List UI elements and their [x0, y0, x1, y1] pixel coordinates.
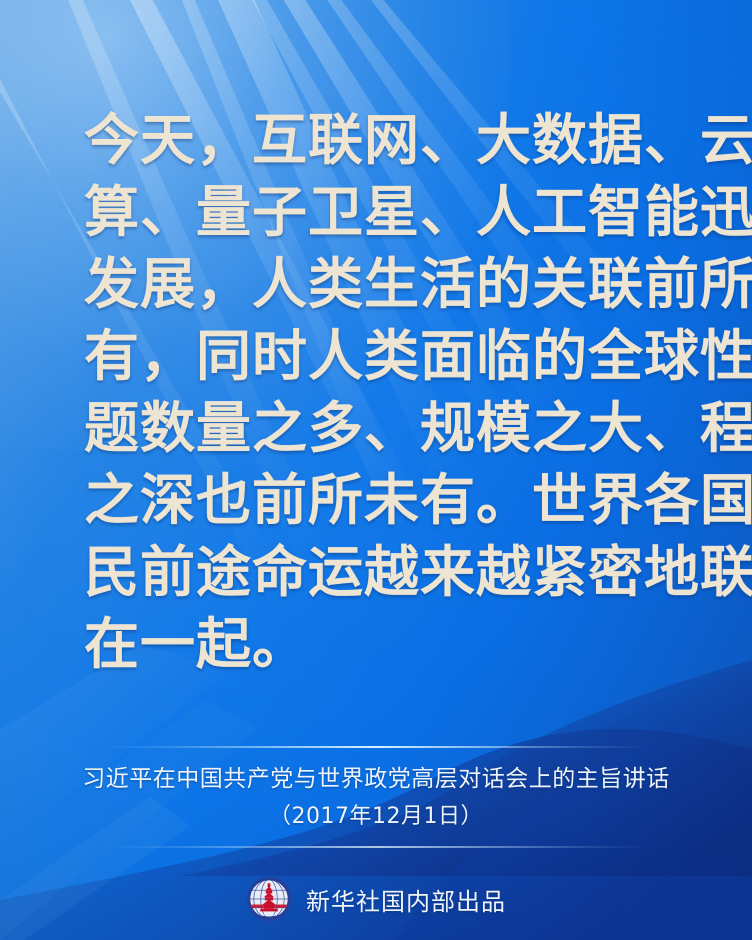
- quote-block: 今天，互联网、大数据、云计 算、量子卫星、人工智能迅猛 发展，人类生活的关联前所…: [84, 104, 670, 680]
- divider-bottom: [104, 846, 648, 848]
- svg-text:XINHUA: XINHUA: [261, 913, 278, 917]
- divider-top: [104, 746, 648, 748]
- footer-label: 新华社国内部出品: [306, 882, 506, 917]
- quote-line: 在一起。: [84, 608, 670, 680]
- attribution-block: 习近平在中国共产党与世界政党高层对话会上的主旨讲话 （2017年12月1日）: [0, 760, 752, 836]
- footer-block: XINHUA 新华社国内部出品: [0, 876, 752, 922]
- quote-line: 发展，人类生活的关联前所未: [84, 248, 670, 320]
- quote-line: 有，同时人类面临的全球性问: [84, 320, 670, 392]
- attribution-source: 习近平在中国共产党与世界政党高层对话会上的主旨讲话: [0, 760, 752, 798]
- attribution-date: （2017年12月1日）: [0, 798, 752, 836]
- quote-line: 今天，互联网、大数据、云计: [84, 104, 670, 176]
- quote-line: 民前途命运越来越紧密地联系: [84, 536, 670, 608]
- quote-line: 之深也前所未有。世界各国人: [84, 464, 670, 536]
- xinhua-pagoda-logo-icon: XINHUA: [246, 876, 292, 922]
- quote-line: 算、量子卫星、人工智能迅猛: [84, 176, 670, 248]
- quote-line: 题数量之多、规模之大、程度: [84, 392, 670, 464]
- poster-canvas: 今天，互联网、大数据、云计 算、量子卫星、人工智能迅猛 发展，人类生活的关联前所…: [0, 0, 752, 940]
